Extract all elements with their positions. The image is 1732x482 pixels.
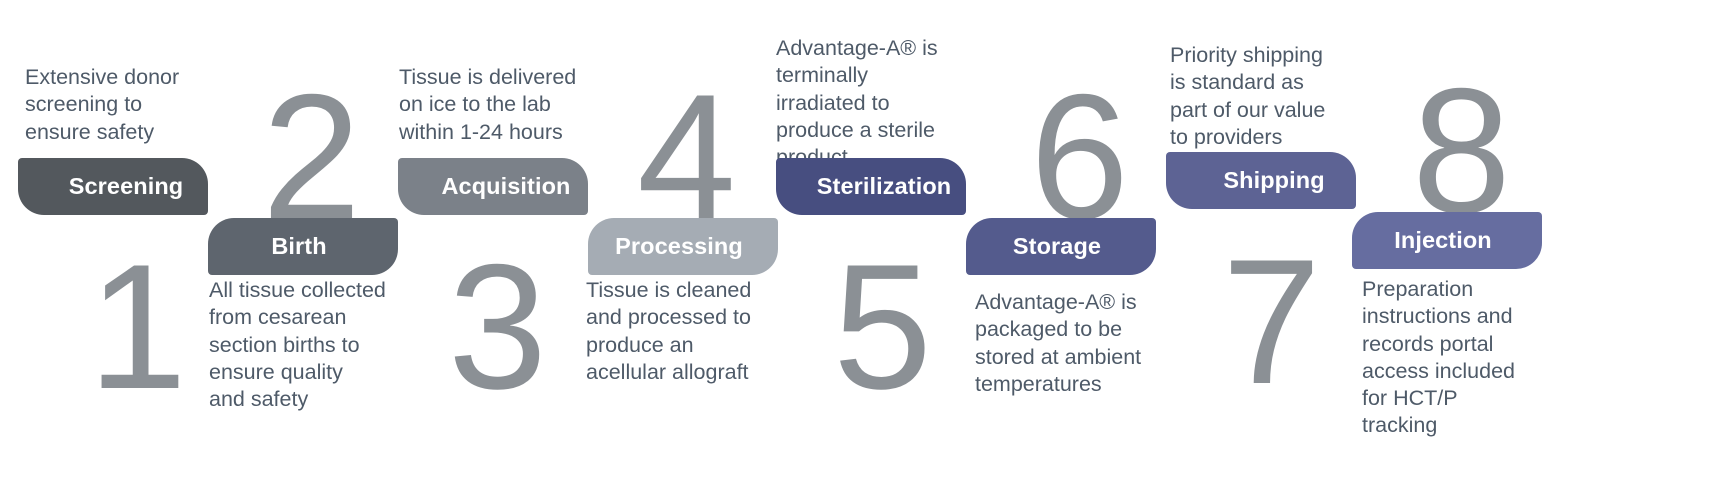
step-badge-injection[interactable]: Injection	[1352, 212, 1542, 269]
process-diagram: Extensive donor screening to ensure safe…	[0, 0, 1732, 482]
step-description-2: All tissue collected from cesarean secti…	[209, 277, 419, 413]
step-badge-label-screening: Screening	[69, 173, 184, 200]
step-description-7: Priority shipping is standard as part of…	[1170, 42, 1360, 151]
step-badge-sterilization[interactable]: Sterilization	[776, 158, 966, 215]
step-description-8: Preparation instructions and records por…	[1362, 276, 1547, 440]
step-description-3: Tissue is delivered on ice to the lab wi…	[399, 64, 599, 146]
step-numeral-5: 5	[833, 238, 930, 416]
step-badge-storage[interactable]: Storage	[966, 218, 1156, 275]
step-numeral-7: 7	[1222, 233, 1319, 411]
step-badge-acquisition[interactable]: Acquisition	[398, 158, 588, 215]
step-badge-label-injection: Injection	[1394, 227, 1492, 254]
step-numeral-1: 1	[88, 238, 185, 416]
step-badge-label-birth: Birth	[271, 233, 326, 260]
step-description-5: Advantage-A® is terminally irradiated to…	[776, 35, 971, 171]
step-badge-label-acquisition: Acquisition	[441, 173, 570, 200]
step-description-4: Tissue is cleaned and processed to produ…	[586, 277, 786, 386]
step-badge-label-shipping: Shipping	[1223, 167, 1324, 194]
step-numeral-3: 3	[448, 238, 545, 416]
step-badge-label-storage: Storage	[1013, 233, 1101, 260]
step-badge-label-sterilization: Sterilization	[817, 173, 952, 200]
step-badge-processing[interactable]: Processing	[588, 218, 778, 275]
step-badge-screening[interactable]: Screening	[18, 158, 208, 215]
step-badge-birth[interactable]: Birth	[208, 218, 398, 275]
step-description-6: Advantage-A® is packaged to be stored at…	[975, 289, 1180, 398]
step-badge-label-processing: Processing	[615, 233, 743, 260]
step-badge-shipping[interactable]: Shipping	[1166, 152, 1356, 209]
step-description-1: Extensive donor screening to ensure safe…	[25, 64, 220, 146]
